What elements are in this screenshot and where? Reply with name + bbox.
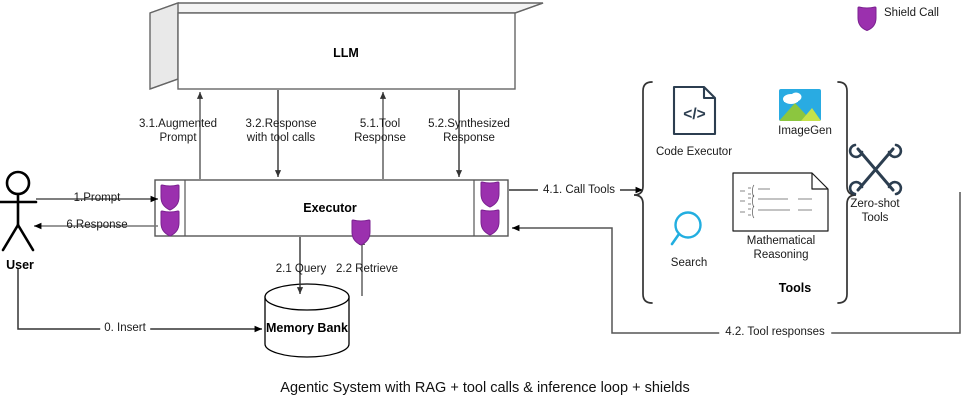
edge-label-synthesized-response-line2: Response (428, 132, 510, 146)
edge-label-tool-response: 5.1.Tool Response (354, 118, 406, 145)
tool-label-code-executor: Code Executor (656, 145, 732, 159)
llm-label: LLM (333, 46, 359, 60)
diagram-caption: Agentic System with RAG + tool calls & i… (280, 380, 689, 396)
svg-text:</>: </> (683, 106, 705, 123)
edge-label-tool-response-line2: Response (354, 132, 406, 146)
edge-label-query: 2.1 Query (276, 263, 327, 277)
edge-label-augmented-prompt: 3.1.Augmented Prompt (139, 118, 217, 145)
tools-group-label: Tools (779, 281, 811, 295)
search-icon (672, 213, 701, 245)
code-executor-icon: </> (674, 87, 715, 134)
tool-label-mathematical-reasoning: Mathematical Reasoning (747, 234, 815, 262)
tool-label-zero-shot-line1: Zero-shot (850, 197, 899, 211)
memory-bank-label: Memory Bank (266, 321, 348, 335)
edge-label-augmented-prompt-line2: Prompt (139, 132, 217, 146)
edge-label-response-tool-calls-line1: 3.2.Response (246, 118, 317, 132)
legend-shield-icon (858, 7, 876, 31)
edge-label-synthesized-response: 5.2.Synthesized Response (428, 118, 510, 145)
tool-label-math-line1: Mathematical (747, 234, 815, 248)
user-label: User (6, 258, 34, 272)
executor-label: Executor (303, 201, 357, 215)
tool-label-math-line2: Reasoning (747, 248, 815, 262)
math-document-icon (733, 173, 828, 231)
edge-label-prompt: 1.Prompt (74, 192, 121, 206)
diagram-canvas: </> (0, 0, 970, 411)
edge-label-augmented-prompt-line1: 3.1.Augmented (139, 118, 217, 132)
edge-label-call-tools: 4.1. Call Tools (538, 184, 620, 198)
tool-label-zero-shot-line2: Tools (850, 211, 899, 225)
legend-shield-label: Shield Call (884, 7, 939, 19)
edge-label-response-with-tool-calls: 3.2.Response with tool calls (246, 118, 317, 145)
shield-executor-bottom-center (352, 220, 370, 245)
edge-label-synthesized-response-line1: 5.2.Synthesized (428, 118, 510, 132)
imagegen-icon (779, 89, 821, 121)
edge-label-tool-response-line1: 5.1.Tool (354, 118, 406, 132)
crossed-wrenches-icon (850, 145, 901, 194)
tool-label-imagegen: ImageGen (778, 124, 832, 138)
tool-label-search: Search (671, 256, 707, 270)
tools-left-brace (634, 82, 652, 303)
tool-label-zero-shot-tools: Zero-shot Tools (850, 197, 899, 225)
user-node (0, 172, 36, 250)
edge-label-insert: 0. Insert (100, 322, 150, 336)
edge-label-response-tool-calls-line2: with tool calls (246, 132, 317, 146)
edge-insert (18, 268, 262, 329)
edge-label-response: 6.Response (66, 219, 127, 233)
diagram-vector-layer: </> (0, 0, 970, 411)
edge-label-tool-responses: 4.2. Tool responses (719, 326, 831, 340)
edge-label-retrieve: 2.2 Retrieve (336, 263, 398, 277)
